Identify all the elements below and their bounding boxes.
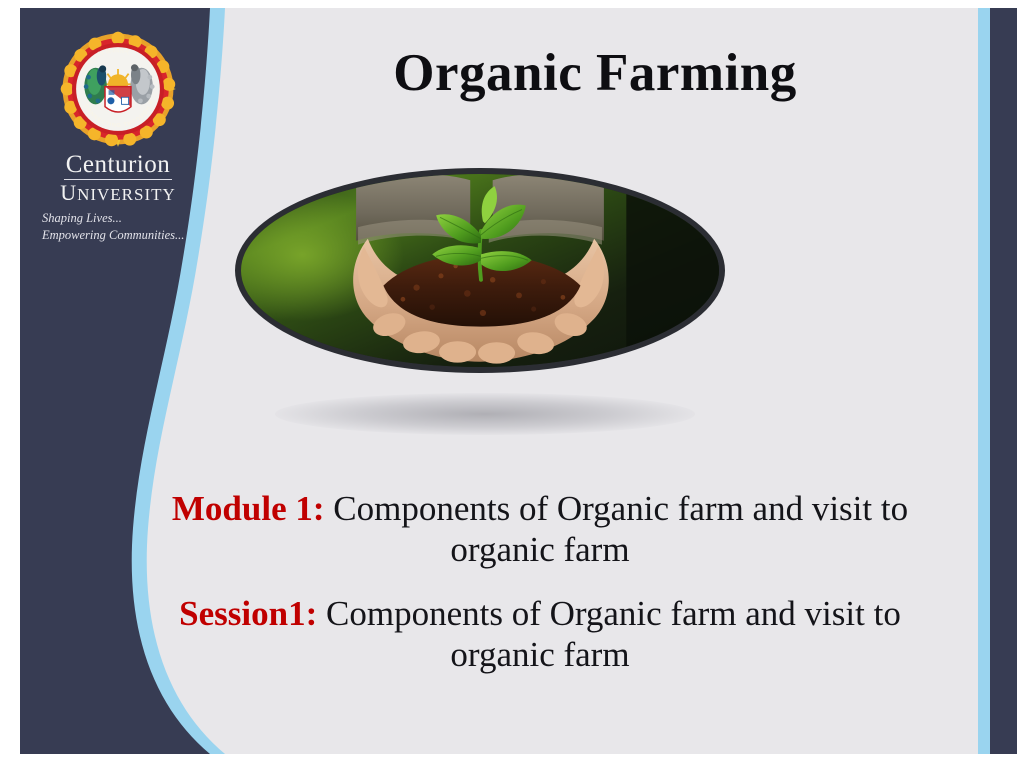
photo-drop-shadow <box>275 393 695 435</box>
wordmark-centurion: Centurion <box>64 152 173 180</box>
tagline-line-1: Shaping Lives... <box>42 210 198 227</box>
slide-body-text: Module 1: Components of Organic farm and… <box>140 488 940 697</box>
university-crest-icon: CONNECTING THROUGH KNOWLEDGE ज्ञानात् सर… <box>59 30 177 148</box>
right-navy-bar <box>990 8 1017 754</box>
session-description: Components of Organic farm and visit to … <box>317 594 901 674</box>
wordmark-university-rest: NIVERSITY <box>77 185 176 204</box>
hero-photo <box>235 168 725 373</box>
right-blue-stripe <box>978 8 990 754</box>
slide-canvas: CONNECTING THROUGH KNOWLEDGE ज्ञानात् सर… <box>20 8 1017 754</box>
session-line: Session1: Components of Organic farm and… <box>140 593 940 676</box>
slide-root: CONNECTING THROUGH KNOWLEDGE ज्ञानात् सर… <box>0 0 1024 768</box>
module-line: Module 1: Components of Organic farm and… <box>140 488 940 571</box>
wordmark-university: UNIVERSITY <box>38 181 198 205</box>
slide-title: Organic Farming <box>200 43 990 103</box>
hero-photo-oval-frame <box>235 168 725 373</box>
wordmark-university-cap: U <box>60 180 77 205</box>
university-wordmark: Centurion UNIVERSITY <box>38 152 198 205</box>
module-label: Module 1: <box>172 489 325 528</box>
university-logo-block: CONNECTING THROUGH KNOWLEDGE ज्ञानात् सर… <box>38 30 198 244</box>
session-label: Session1: <box>179 594 317 633</box>
brand-tagline: Shaping Lives... Empowering Communities.… <box>38 210 198 244</box>
soil-seedling-illustration <box>241 174 719 367</box>
tagline-line-2: Empowering Communities... <box>42 227 198 244</box>
module-description: Components of Organic farm and visit to … <box>325 489 909 569</box>
